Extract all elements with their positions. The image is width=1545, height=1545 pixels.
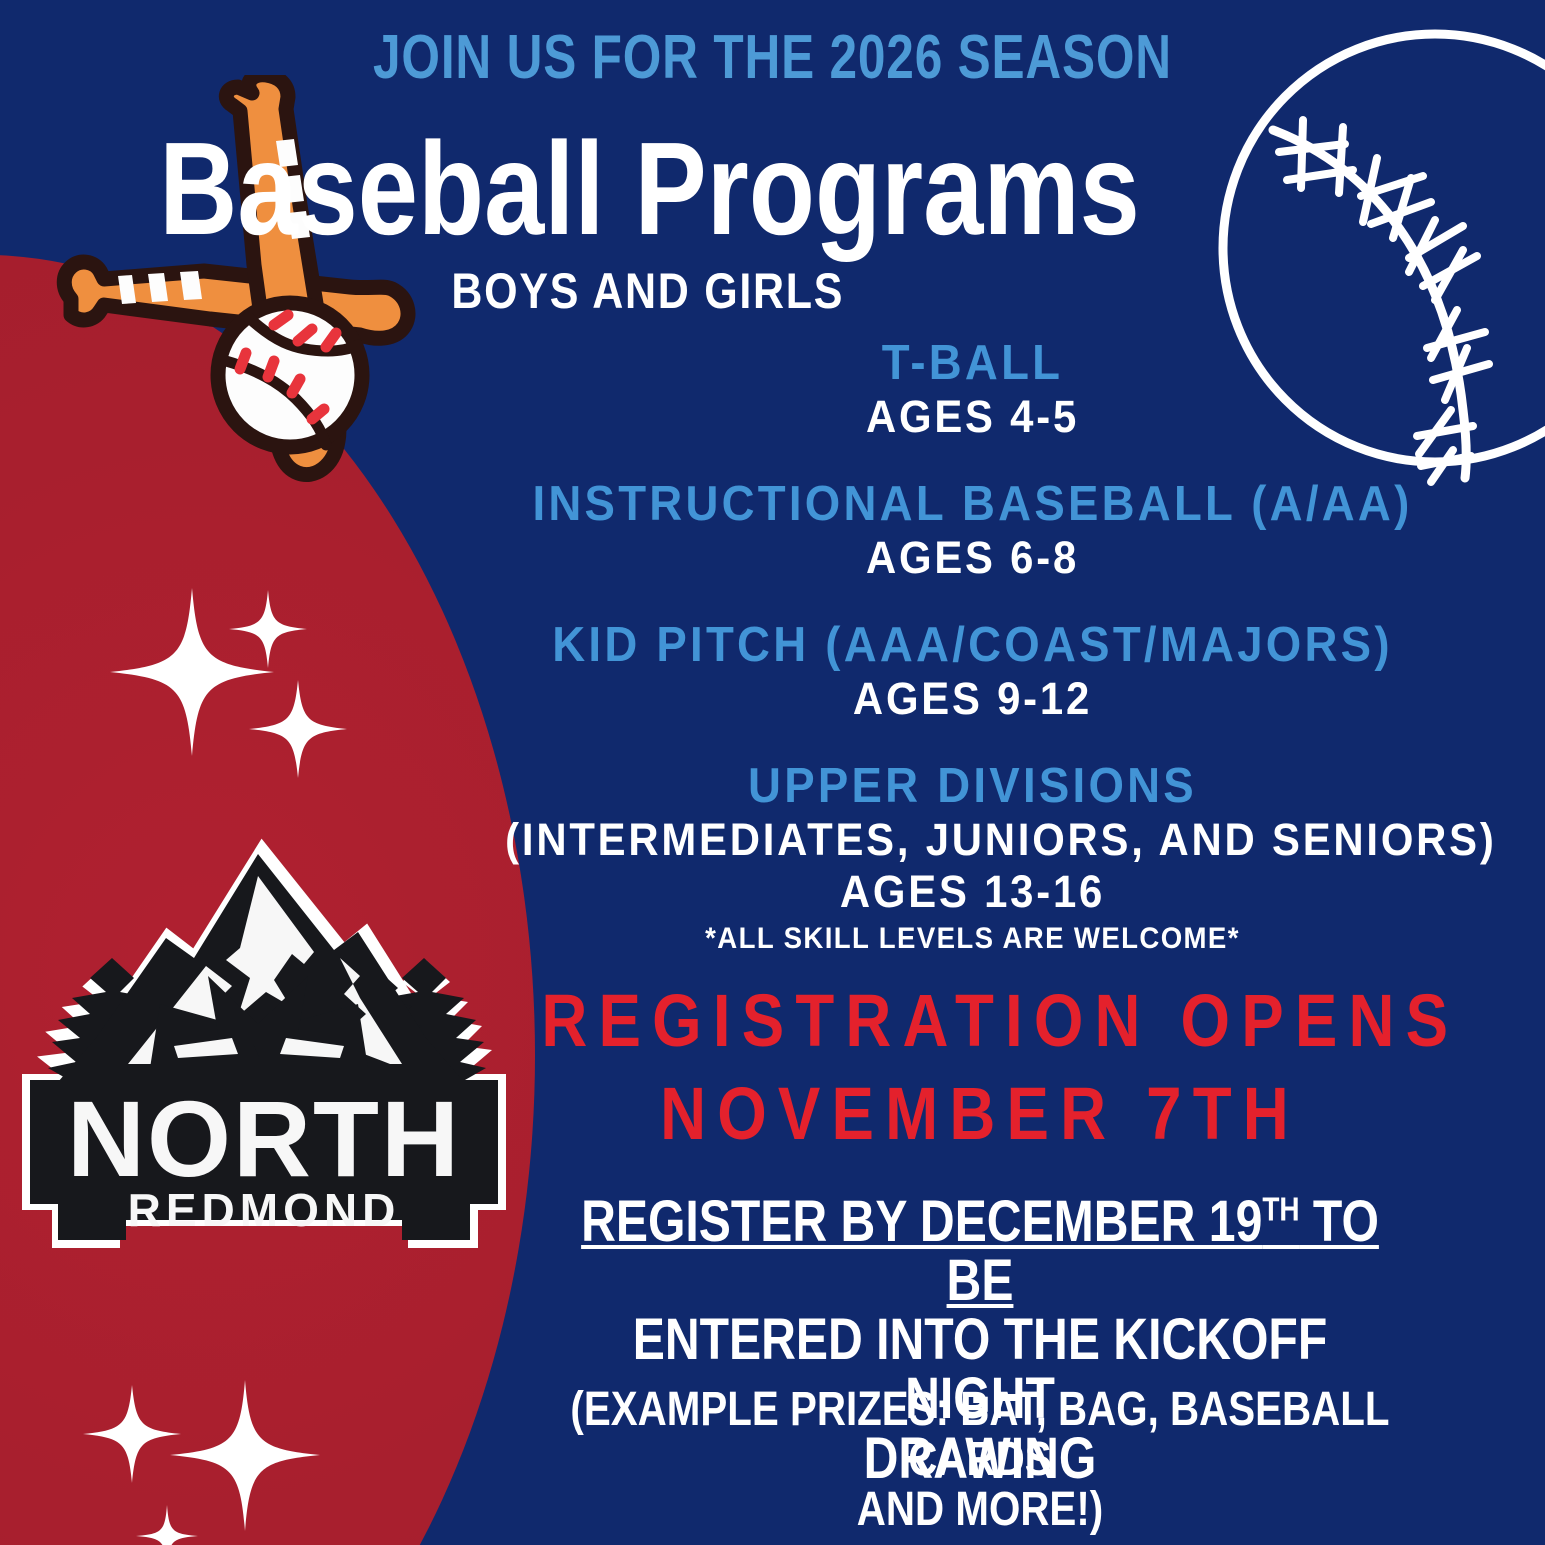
program-name: T-BALL	[505, 336, 1440, 391]
page-subtitle: BOYS AND GIRLS	[108, 262, 1437, 320]
program-item-instructional: INSTRUCTIONAL BASEBALL (A/AA) AGES 6-8	[470, 477, 1475, 584]
program-name: UPPER DIVISIONS	[505, 759, 1440, 814]
deadline-prefix: REGISTER BY DECEMBER 19	[581, 1189, 1262, 1254]
example-prizes: (EXAMPLE PRIZES: BAT, BAG, BASEBALL CARD…	[552, 1385, 1409, 1535]
page-title: Baseball Programs	[139, 120, 1406, 259]
program-name: KID PITCH (AAA/COAST/MAJORS)	[505, 618, 1440, 673]
program-divisions: (INTERMEDIATES, JUNIORS, AND SENIORS)	[505, 814, 1440, 866]
kicker-headline: JOIN US FOR THE 2026 SEASON	[155, 22, 1391, 93]
program-list: T-BALL AGES 4-5 INSTRUCTIONAL BASEBALL (…	[470, 336, 1475, 952]
program-ages: AGES 9-12	[505, 673, 1440, 725]
program-ages: AGES 13-16	[505, 866, 1440, 918]
program-item-kid-pitch: KID PITCH (AAA/COAST/MAJORS) AGES 9-12	[470, 618, 1475, 725]
program-item-upper-divisions: UPPER DIVISIONS (INTERMEDIATES, JUNIORS,…	[470, 759, 1475, 918]
program-name: INSTRUCTIONAL BASEBALL (A/AA)	[505, 477, 1440, 532]
program-ages: AGES 4-5	[505, 391, 1440, 443]
registration-line-2: NOVEMBER 7TH	[541, 1068, 1418, 1161]
poster-text-content: JOIN US FOR THE 2026 SEASON Baseball Pro…	[0, 0, 1545, 1545]
skill-level-note: *ALL SKILL LEVELS ARE WELCOME*	[510, 922, 1435, 956]
deadline-line-1: REGISTER BY DECEMBER 19TH TO BE	[557, 1192, 1404, 1310]
poster-canvas: NORTH REDMOND JOIN US FOR THE 2026 SEASO…	[0, 0, 1545, 1545]
program-ages: AGES 6-8	[505, 532, 1440, 584]
deadline-ordinal: TH	[1262, 1192, 1299, 1229]
prizes-line-1: (EXAMPLE PRIZES: BAT, BAG, BASEBALL CARD…	[552, 1385, 1409, 1485]
program-item-t-ball: T-BALL AGES 4-5	[470, 336, 1475, 443]
registration-announcement: REGISTRATION OPENS NOVEMBER 7TH	[541, 975, 1418, 1160]
prizes-line-2: AND MORE!)	[552, 1485, 1409, 1535]
registration-line-1: REGISTRATION OPENS	[541, 975, 1418, 1068]
